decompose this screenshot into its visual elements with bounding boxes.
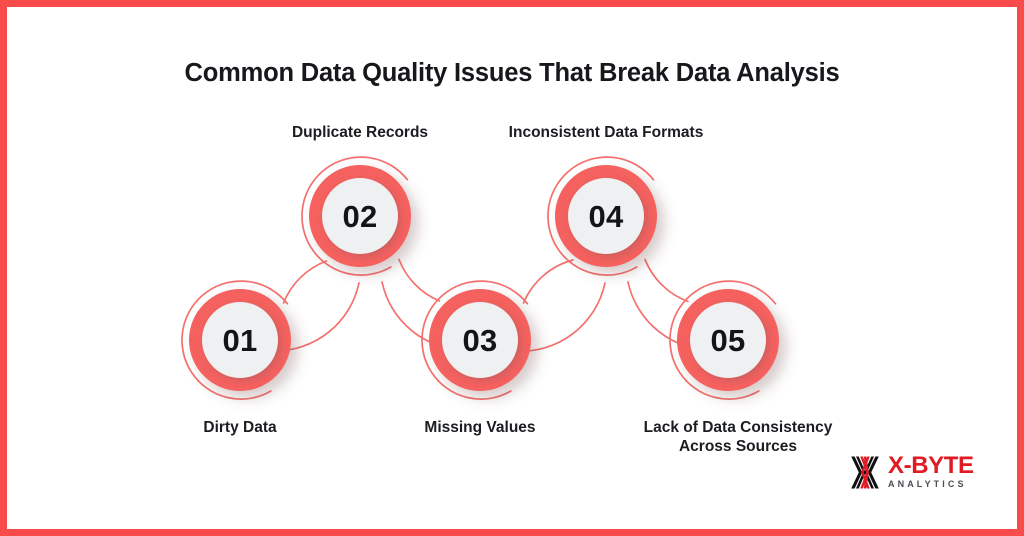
step-number-04: 04: [588, 201, 623, 232]
step-inner-04: 04: [568, 178, 644, 254]
step-number-03: 03: [462, 325, 497, 356]
step-label-05: Lack of Data Consistency Across Sources: [628, 418, 848, 457]
step-label-04: Inconsistent Data Formats: [496, 123, 716, 142]
step-number-01: 01: [222, 325, 257, 356]
step-node-04[interactable]: 04: [555, 165, 657, 267]
infographic-page: Common Data Quality Issues That Break Da…: [0, 0, 1024, 536]
logo-name: X-BYTE: [888, 454, 974, 478]
page-title: Common Data Quality Issues That Break Da…: [7, 59, 1017, 88]
brand-logo: X-BYTE ANALYTICS: [850, 454, 974, 490]
step-node-03[interactable]: 03: [429, 289, 531, 391]
step-node-02[interactable]: 02: [309, 165, 411, 267]
step-inner-05: 05: [690, 302, 766, 378]
step-number-02: 02: [342, 201, 377, 232]
logo-tagline: ANALYTICS: [888, 479, 974, 490]
step-inner-03: 03: [442, 302, 518, 378]
step-node-05[interactable]: 05: [677, 289, 779, 391]
step-label-01: Dirty Data: [140, 418, 340, 437]
step-node-01[interactable]: 01: [189, 289, 291, 391]
x-byte-logo-icon: [850, 456, 880, 489]
logo-text-block: X-BYTE ANALYTICS: [888, 454, 974, 490]
step-label-03: Missing Values: [380, 418, 580, 437]
step-inner-02: 02: [322, 178, 398, 254]
step-inner-01: 01: [202, 302, 278, 378]
step-number-05: 05: [710, 325, 745, 356]
infographic-canvas: Common Data Quality Issues That Break Da…: [7, 7, 1017, 529]
step-label-02: Duplicate Records: [260, 123, 460, 142]
